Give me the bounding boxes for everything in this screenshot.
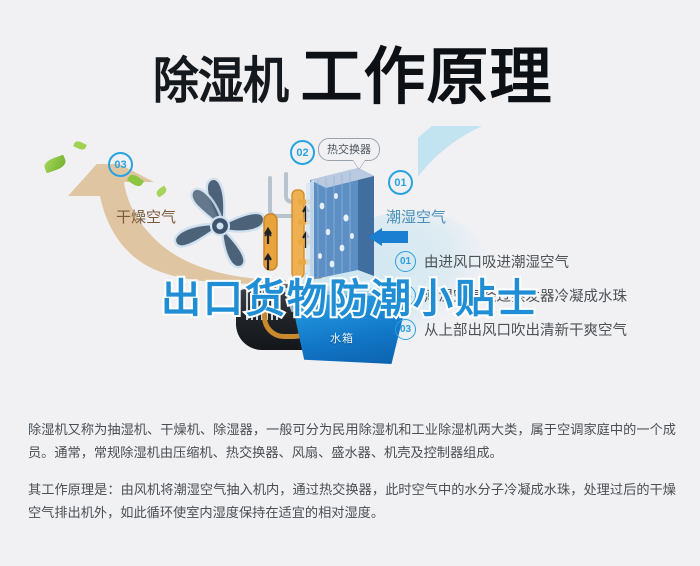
overlay-headline-text: 出口货物防潮小贴士 <box>161 276 539 322</box>
body-copy: 除湿机又称为抽湿机、干燥机、除湿器，一般可分为民用除湿机和工业除湿机两大类，属于… <box>28 418 676 538</box>
title-part-dehumidifier: 除湿机 <box>153 41 288 113</box>
heat-exchanger-callout: 热交换器 <box>318 138 380 161</box>
page-title: 除湿机 工作原理 <box>0 26 700 116</box>
body-paragraph-2: 其工作原理是：由风机将潮湿空气抽入机内，通过热交换器，此时空气中的水分子冷凝成水… <box>28 478 676 524</box>
overlay-headline: 出口货物防潮小贴士 <box>0 266 700 324</box>
diagram-badge-01: 01 <box>388 170 413 195</box>
diagram-badge-03: 03 <box>108 152 133 177</box>
body-paragraph-1: 除湿机又称为抽湿机、干燥机、除湿器，一般可分为民用除湿机和工业除湿机两大类，属于… <box>28 418 676 464</box>
poster-root: 除湿机 工作原理 <box>0 0 700 566</box>
dry-air-label: 干燥空气 <box>116 206 176 227</box>
water-tank-label: 水箱 <box>330 330 354 346</box>
humid-air-label: 潮湿空气 <box>386 206 446 227</box>
diagram-badge-02: 02 <box>290 140 315 165</box>
title-part-principle: 工作原理 <box>300 26 552 116</box>
leaf-icon <box>73 140 87 151</box>
